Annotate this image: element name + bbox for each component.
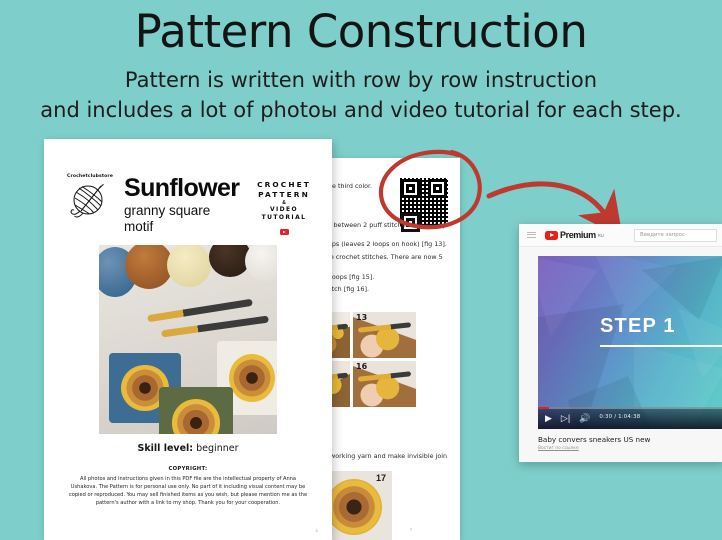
search-input[interactable]: Введите запрос	[634, 229, 717, 242]
youtube-icon	[280, 229, 289, 235]
instruction-line: 5 loops [fig 15].	[324, 273, 460, 282]
step-subtitle: S	[600, 351, 722, 360]
instruction-line: ce between 2 puff stitches and pull up	[324, 221, 460, 230]
mid-page-number: 7	[410, 527, 412, 532]
instruction-line: e working yarn and make invisible join	[324, 452, 460, 461]
product-subtitle: granny square motif	[124, 203, 242, 235]
video-title[interactable]: Baby convers sneakers US new	[538, 435, 650, 444]
annotation-arrow	[489, 184, 605, 214]
skill-level-label: Skill level:	[137, 443, 193, 454]
yarn-ball-icon	[67, 180, 113, 220]
brand-name-label: Crochetclubstore	[62, 174, 118, 179]
volume-icon[interactable]: 🔊	[579, 414, 590, 423]
instruction-line: oops (leaves 2 loops on hook) [fig 13].	[324, 240, 460, 249]
granny-square-green	[159, 387, 233, 434]
instruction-text-block: Use third color. ce between 2 puff stitc…	[324, 182, 460, 298]
subtitle-line-2: and includes a lot of photoы and video t…	[0, 96, 722, 126]
copyright-body: All photos and instructions given in thi…	[66, 475, 310, 507]
video-player[interactable]: STEP 1 S ▶ ▷| 🔊 0:30 / 1:04:38	[538, 256, 722, 429]
badge-line-3: VIDEO TUTORIAL	[248, 206, 320, 222]
badge-line-1: CROCHET	[248, 180, 320, 190]
figure-number: 13	[356, 313, 367, 322]
figure-thumbnail[interactable]: 13	[353, 312, 416, 358]
next-icon[interactable]: ▷|	[561, 414, 570, 423]
instruction-line: ble crochet stitches. There are now 5	[324, 253, 460, 262]
subtitle-line-1: Pattern is written with row by row instr…	[0, 66, 722, 96]
youtube-play-icon	[545, 231, 558, 240]
video-overlay-text: STEP 1 S	[600, 316, 722, 360]
figure-thumbnail[interactable]: 16	[353, 361, 416, 407]
hamburger-icon[interactable]	[527, 232, 536, 239]
player-controls[interactable]: ▶ ▷| 🔊 0:30 / 1:04:38	[538, 407, 722, 429]
pattern-type-badge: CROCHET PATTERN & VIDEO TUTORIAL	[248, 174, 320, 240]
yarn-ball-cream	[167, 245, 211, 287]
figure-thumbnail-17[interactable]: 17	[324, 471, 392, 540]
step-divider	[600, 345, 722, 347]
copyright-heading: COPYRIGHT:	[44, 466, 332, 472]
figure-row-16: 16	[318, 361, 416, 407]
cover-page-number: 1	[316, 528, 318, 533]
youtube-window[interactable]: Premium RU Введите запрос STEP 1 S	[519, 224, 722, 462]
brand-logo: Crochetclubstore	[62, 174, 118, 220]
figure-number: 17	[376, 473, 386, 483]
video-meta[interactable]: Востиг по ссылке	[538, 446, 579, 451]
progress-bar[interactable]	[538, 407, 722, 409]
skill-level: Skill level: beginner	[44, 443, 332, 454]
pattern-cover-document[interactable]: Crochetclubstore	[44, 139, 332, 540]
youtube-logo[interactable]: Premium RU	[545, 230, 604, 240]
sunflower-motif-image	[328, 481, 380, 533]
cover-photo	[99, 245, 277, 434]
slide-canvas: Pattern Construction Pattern is written …	[0, 0, 722, 540]
product-title: Sunflower	[124, 176, 242, 201]
instruction-line: stitch [fig 16].	[324, 285, 460, 294]
page-title: Pattern Construction	[0, 8, 722, 55]
figure-number: 16	[356, 362, 367, 371]
youtube-header: Premium RU Введите запрос	[519, 224, 722, 247]
instruction-line: Use third color.	[324, 182, 460, 191]
youtube-locale-superscript: RU	[598, 233, 604, 238]
cover-title-block: Sunflower granny square motif	[124, 174, 242, 235]
step-title: STEP 1	[600, 316, 722, 336]
badge-line-2: PATTERN	[248, 190, 320, 200]
figure-row-13: 13	[318, 312, 416, 358]
instruction-text-block-2: e working yarn and make invisible join	[324, 452, 460, 465]
skill-level-value: beginner	[196, 443, 238, 454]
page-subtitle: Pattern is written with row by row instr…	[0, 66, 722, 126]
youtube-logo-text: Premium	[560, 230, 596, 240]
play-icon[interactable]: ▶	[545, 414, 552, 423]
cover-header: Crochetclubstore	[62, 174, 320, 240]
time-display: 0:30 / 1:04:38	[599, 415, 640, 420]
